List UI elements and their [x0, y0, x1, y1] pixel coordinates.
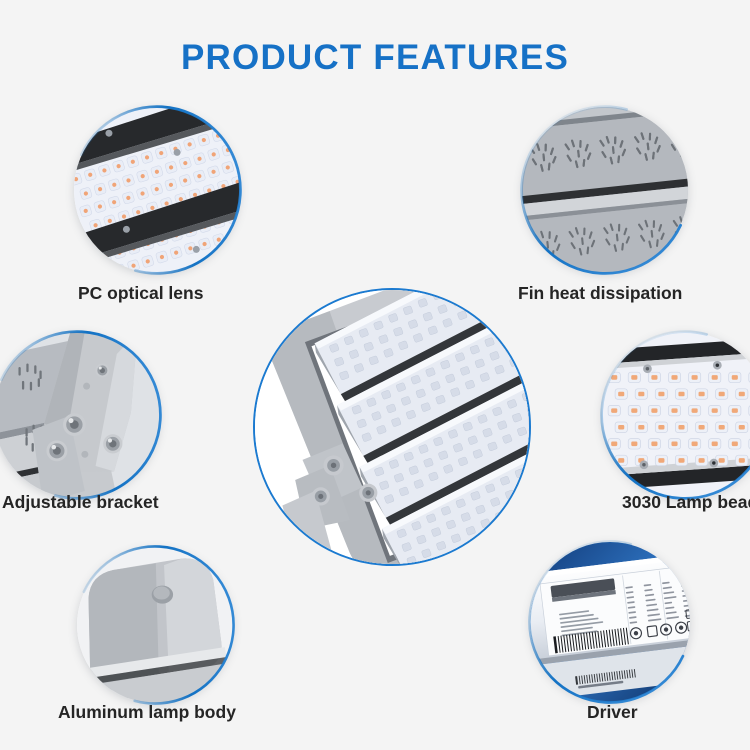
photo-mounting-bracket-bolts-closeup [0, 332, 160, 498]
page-title: PRODUCT FEATURES [0, 38, 750, 78]
feature-label-pc-optical-lens: PC optical lens [78, 283, 203, 304]
photo-led-driver-power-supply-closeup [530, 542, 690, 702]
infographic-canvas: PRODUCT FEATURES PC optical lensFin heat… [0, 0, 750, 750]
photo-led-lens-array-closeup [74, 107, 240, 273]
photo-aluminium-fin-heatsink-closeup [522, 107, 688, 273]
hero-product-image [253, 288, 531, 566]
feature-image-driver[interactable] [530, 542, 690, 702]
feature-label-aluminum-lamp-body: Aluminum lamp body [58, 702, 236, 723]
feature-label-fin-heat-dissipation: Fin heat dissipation [518, 283, 682, 304]
flood-light-illustration [255, 290, 529, 564]
feature-label-adjustable-bracket: Adjustable bracket [2, 492, 159, 513]
feature-label-driver: Driver [587, 702, 638, 723]
feature-image-aluminum-lamp-body[interactable] [77, 547, 233, 703]
photo-led-3030-bead-board-closeup [602, 332, 750, 498]
feature-image-pc-optical-lens[interactable] [74, 107, 240, 273]
feature-label-3030-lamp-bead: 3030 Lamp bead [622, 492, 750, 513]
photo-aluminium-housing-corner-closeup [77, 547, 233, 703]
feature-image-adjustable-bracket[interactable] [0, 332, 160, 498]
feature-image-3030-lamp-bead[interactable] [602, 332, 750, 498]
feature-image-fin-heat-dissipation[interactable] [522, 107, 688, 273]
